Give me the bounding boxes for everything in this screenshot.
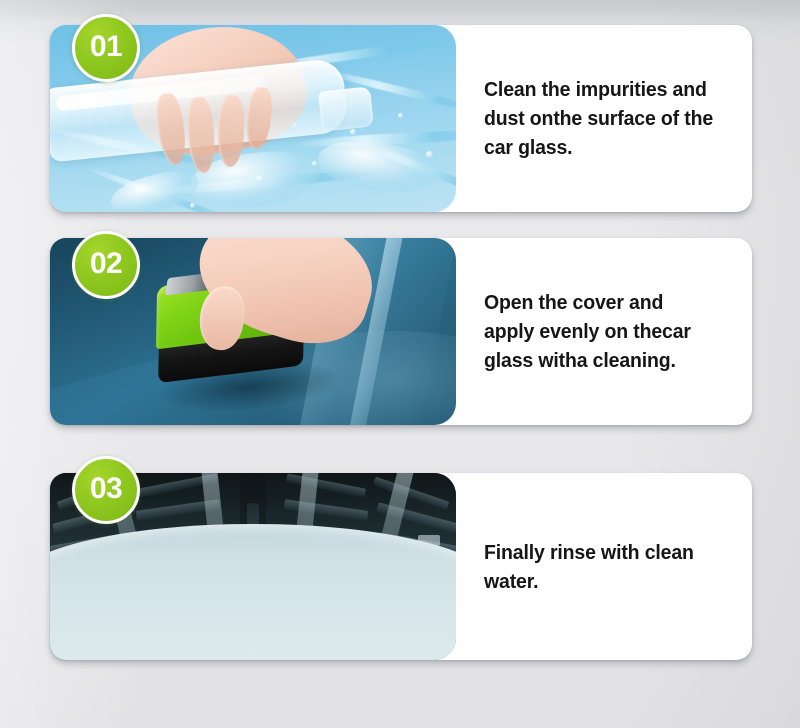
bottle-neck — [318, 86, 374, 131]
step-card-02: Open the cover and apply evenly on theca… — [50, 238, 752, 425]
windshield-glass — [50, 524, 456, 660]
step-description-02: Open the cover and apply evenly on theca… — [484, 288, 714, 375]
water-droplet — [190, 203, 195, 208]
step-number-label-02: 02 — [90, 249, 122, 279]
roof-slat — [284, 499, 369, 521]
water-droplet — [256, 175, 264, 183]
instruction-infographic: Clean the impurities and dust onthe surf… — [0, 0, 800, 728]
step-description-03: Finally rinse with clean water. — [484, 538, 714, 596]
step-card-03: Finally rinse with clean water. — [50, 473, 752, 660]
step-number-label-03: 03 — [90, 474, 122, 504]
roof-slat — [286, 473, 366, 497]
step-number-badge-03: 03 — [72, 456, 140, 524]
step-number-label-01: 01 — [90, 32, 122, 62]
step-card-01: Clean the impurities and dust onthe surf… — [50, 25, 752, 212]
water-droplet — [398, 113, 403, 118]
step-number-badge-01: 01 — [72, 14, 140, 82]
water-droplet — [426, 151, 433, 158]
step-text-panel-03: Finally rinse with clean water. — [456, 473, 752, 660]
step-number-badge-02: 02 — [72, 231, 140, 299]
water-puddle — [315, 134, 441, 200]
water-droplet — [312, 161, 317, 166]
water-droplet — [350, 129, 356, 135]
step-text-panel-02: Open the cover and apply evenly on theca… — [456, 238, 752, 425]
step-text-panel-01: Clean the impurities and dust onthe surf… — [456, 25, 752, 212]
step-description-01: Clean the impurities and dust onthe surf… — [484, 75, 714, 162]
